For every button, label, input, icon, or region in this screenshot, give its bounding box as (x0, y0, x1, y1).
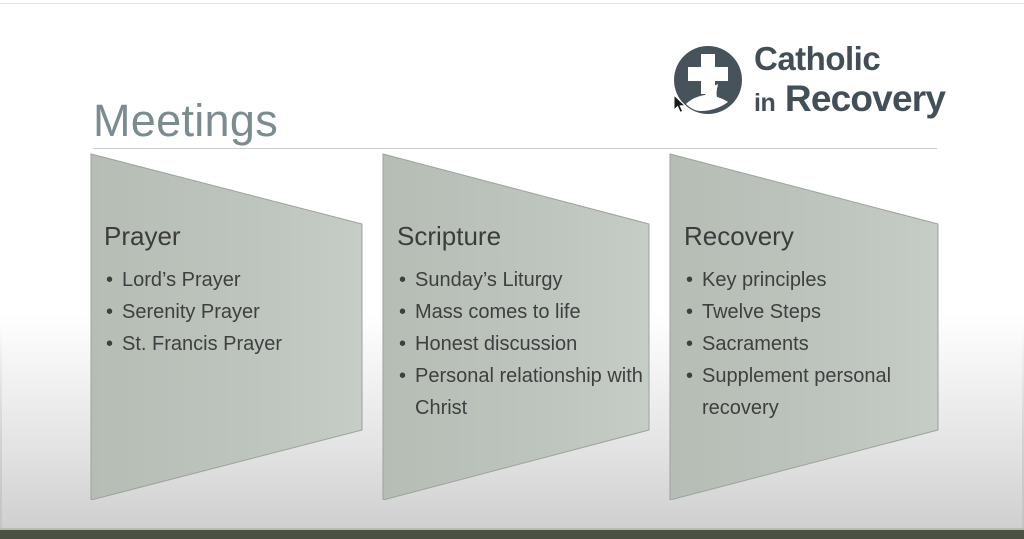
bullet-icon: • (686, 360, 693, 392)
list-item: •Sacraments (684, 328, 946, 360)
list-item-label: Honest discussion (415, 333, 577, 355)
panel-content: Prayer •Lord’s Prayer •Serenity Prayer •… (104, 220, 366, 360)
list-item: •Lord’s Prayer (104, 264, 366, 296)
brand-line-2-prefix: in (754, 89, 775, 117)
bullet-icon: • (686, 296, 693, 328)
list-item: •Mass comes to life (397, 296, 659, 328)
panel-bullet-list: •Key principles •Twelve Steps •Sacrament… (684, 264, 946, 424)
list-item: •Key principles (684, 264, 946, 296)
list-item-label: Supplement personal recovery (702, 365, 891, 419)
bottom-band (0, 530, 1024, 539)
list-item-label: Key principles (702, 269, 827, 291)
list-item-label: Sunday’s Liturgy (415, 269, 563, 291)
list-item-label: Twelve Steps (702, 301, 821, 323)
panel-heading: Scripture (397, 220, 659, 252)
brand-logo: Catholic in Recovery (672, 40, 940, 126)
brand-wordmark: Catholic in Recovery (754, 40, 944, 124)
list-item: •Serenity Prayer (104, 296, 366, 328)
top-divider (0, 3, 1024, 4)
bullet-icon: • (106, 264, 113, 296)
bullet-icon: • (686, 328, 693, 360)
list-item-label: Sacraments (702, 333, 809, 355)
bullet-icon: • (399, 296, 406, 328)
brand-line-1: Catholic (754, 40, 944, 78)
bullet-icon: • (106, 296, 113, 328)
bullet-icon: • (399, 328, 406, 360)
chevron-panel-prayer: Prayer •Lord’s Prayer •Serenity Prayer •… (86, 140, 386, 500)
list-item: •Supplement personal recovery (684, 360, 946, 424)
chevron-panel-scripture: Scripture •Sunday’s Liturgy •Mass comes … (373, 140, 673, 500)
list-item-label: Mass comes to life (415, 301, 581, 323)
mouse-cursor-icon (674, 95, 688, 115)
list-item: •Personal relationship with Christ (397, 360, 659, 424)
list-item: •St. Francis Prayer (104, 328, 366, 360)
bullet-icon: • (106, 328, 113, 360)
panel-bullet-list: •Lord’s Prayer •Serenity Prayer •St. Fra… (104, 264, 366, 360)
brand-line-2-main: Recovery (785, 78, 945, 119)
panel-heading: Recovery (684, 220, 946, 252)
panel-content: Recovery •Key principles •Twelve Steps •… (684, 220, 946, 424)
list-item: •Honest discussion (397, 328, 659, 360)
bullet-icon: • (686, 264, 693, 296)
left-edge-shade (0, 0, 2, 539)
list-item: •Twelve Steps (684, 296, 946, 328)
list-item: •Sunday’s Liturgy (397, 264, 659, 296)
list-item-label: St. Francis Prayer (122, 333, 282, 355)
page-title: Meetings (93, 96, 278, 146)
panel-content: Scripture •Sunday’s Liturgy •Mass comes … (397, 220, 659, 424)
list-item-label: Serenity Prayer (122, 301, 260, 323)
presentation-slide: Meetings Catholic in Recovery (0, 0, 1024, 539)
bullet-icon: • (399, 360, 406, 392)
bullet-icon: • (399, 264, 406, 296)
list-item-label: Personal relationship with Christ (415, 365, 643, 419)
panel-heading: Prayer (104, 220, 366, 252)
chevron-panel-recovery: Recovery •Key principles •Twelve Steps •… (660, 140, 960, 500)
panel-bullet-list: •Sunday’s Liturgy •Mass comes to life •H… (397, 264, 659, 424)
brand-line-2: in Recovery (754, 78, 944, 124)
list-item-label: Lord’s Prayer (122, 269, 241, 291)
